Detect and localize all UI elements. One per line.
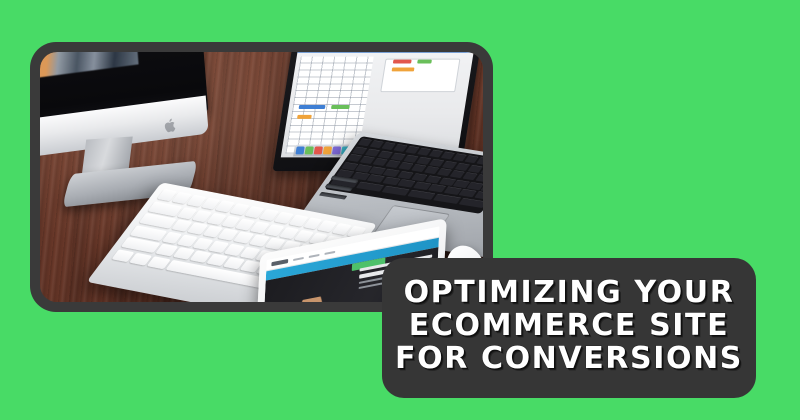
dock-app-icon xyxy=(323,146,332,154)
hero-person-photo xyxy=(276,293,341,302)
macbook-detail-panel xyxy=(380,59,460,93)
title-line-2: ECOMMERCE SITE xyxy=(409,310,729,342)
dock-app-icon xyxy=(314,146,323,154)
spreadsheet-entry-chip xyxy=(392,67,415,71)
imac-wallpaper xyxy=(40,52,139,79)
title-card: OPTIMIZING YOUR ECOMMERCE SITE FOR CONVE… xyxy=(382,258,756,398)
dock-app-icon xyxy=(295,146,304,154)
spreadsheet-entry-chip xyxy=(393,60,412,64)
spreadsheet-entry-chip xyxy=(417,60,432,64)
imac-device xyxy=(40,52,218,192)
blog-header-banner: MacBook xyxy=(0,0,800,420)
dock-app-icon xyxy=(305,146,314,154)
title-line-3: FOR CONVERSIONS xyxy=(395,343,743,375)
spreadsheet-entry-chip xyxy=(299,105,326,109)
macbook-app-toolbar xyxy=(297,52,474,53)
site-logo-icon xyxy=(271,259,288,266)
spreadsheet-entry-chip xyxy=(297,115,312,119)
spreadsheet-entry-chip xyxy=(331,105,350,109)
nav-link xyxy=(293,257,304,262)
title-line-1: OPTIMIZING YOUR xyxy=(404,277,735,309)
apple-logo-icon xyxy=(163,117,178,133)
nav-link xyxy=(309,254,320,259)
dock-app-icon xyxy=(332,146,341,154)
nav-link xyxy=(324,251,335,256)
